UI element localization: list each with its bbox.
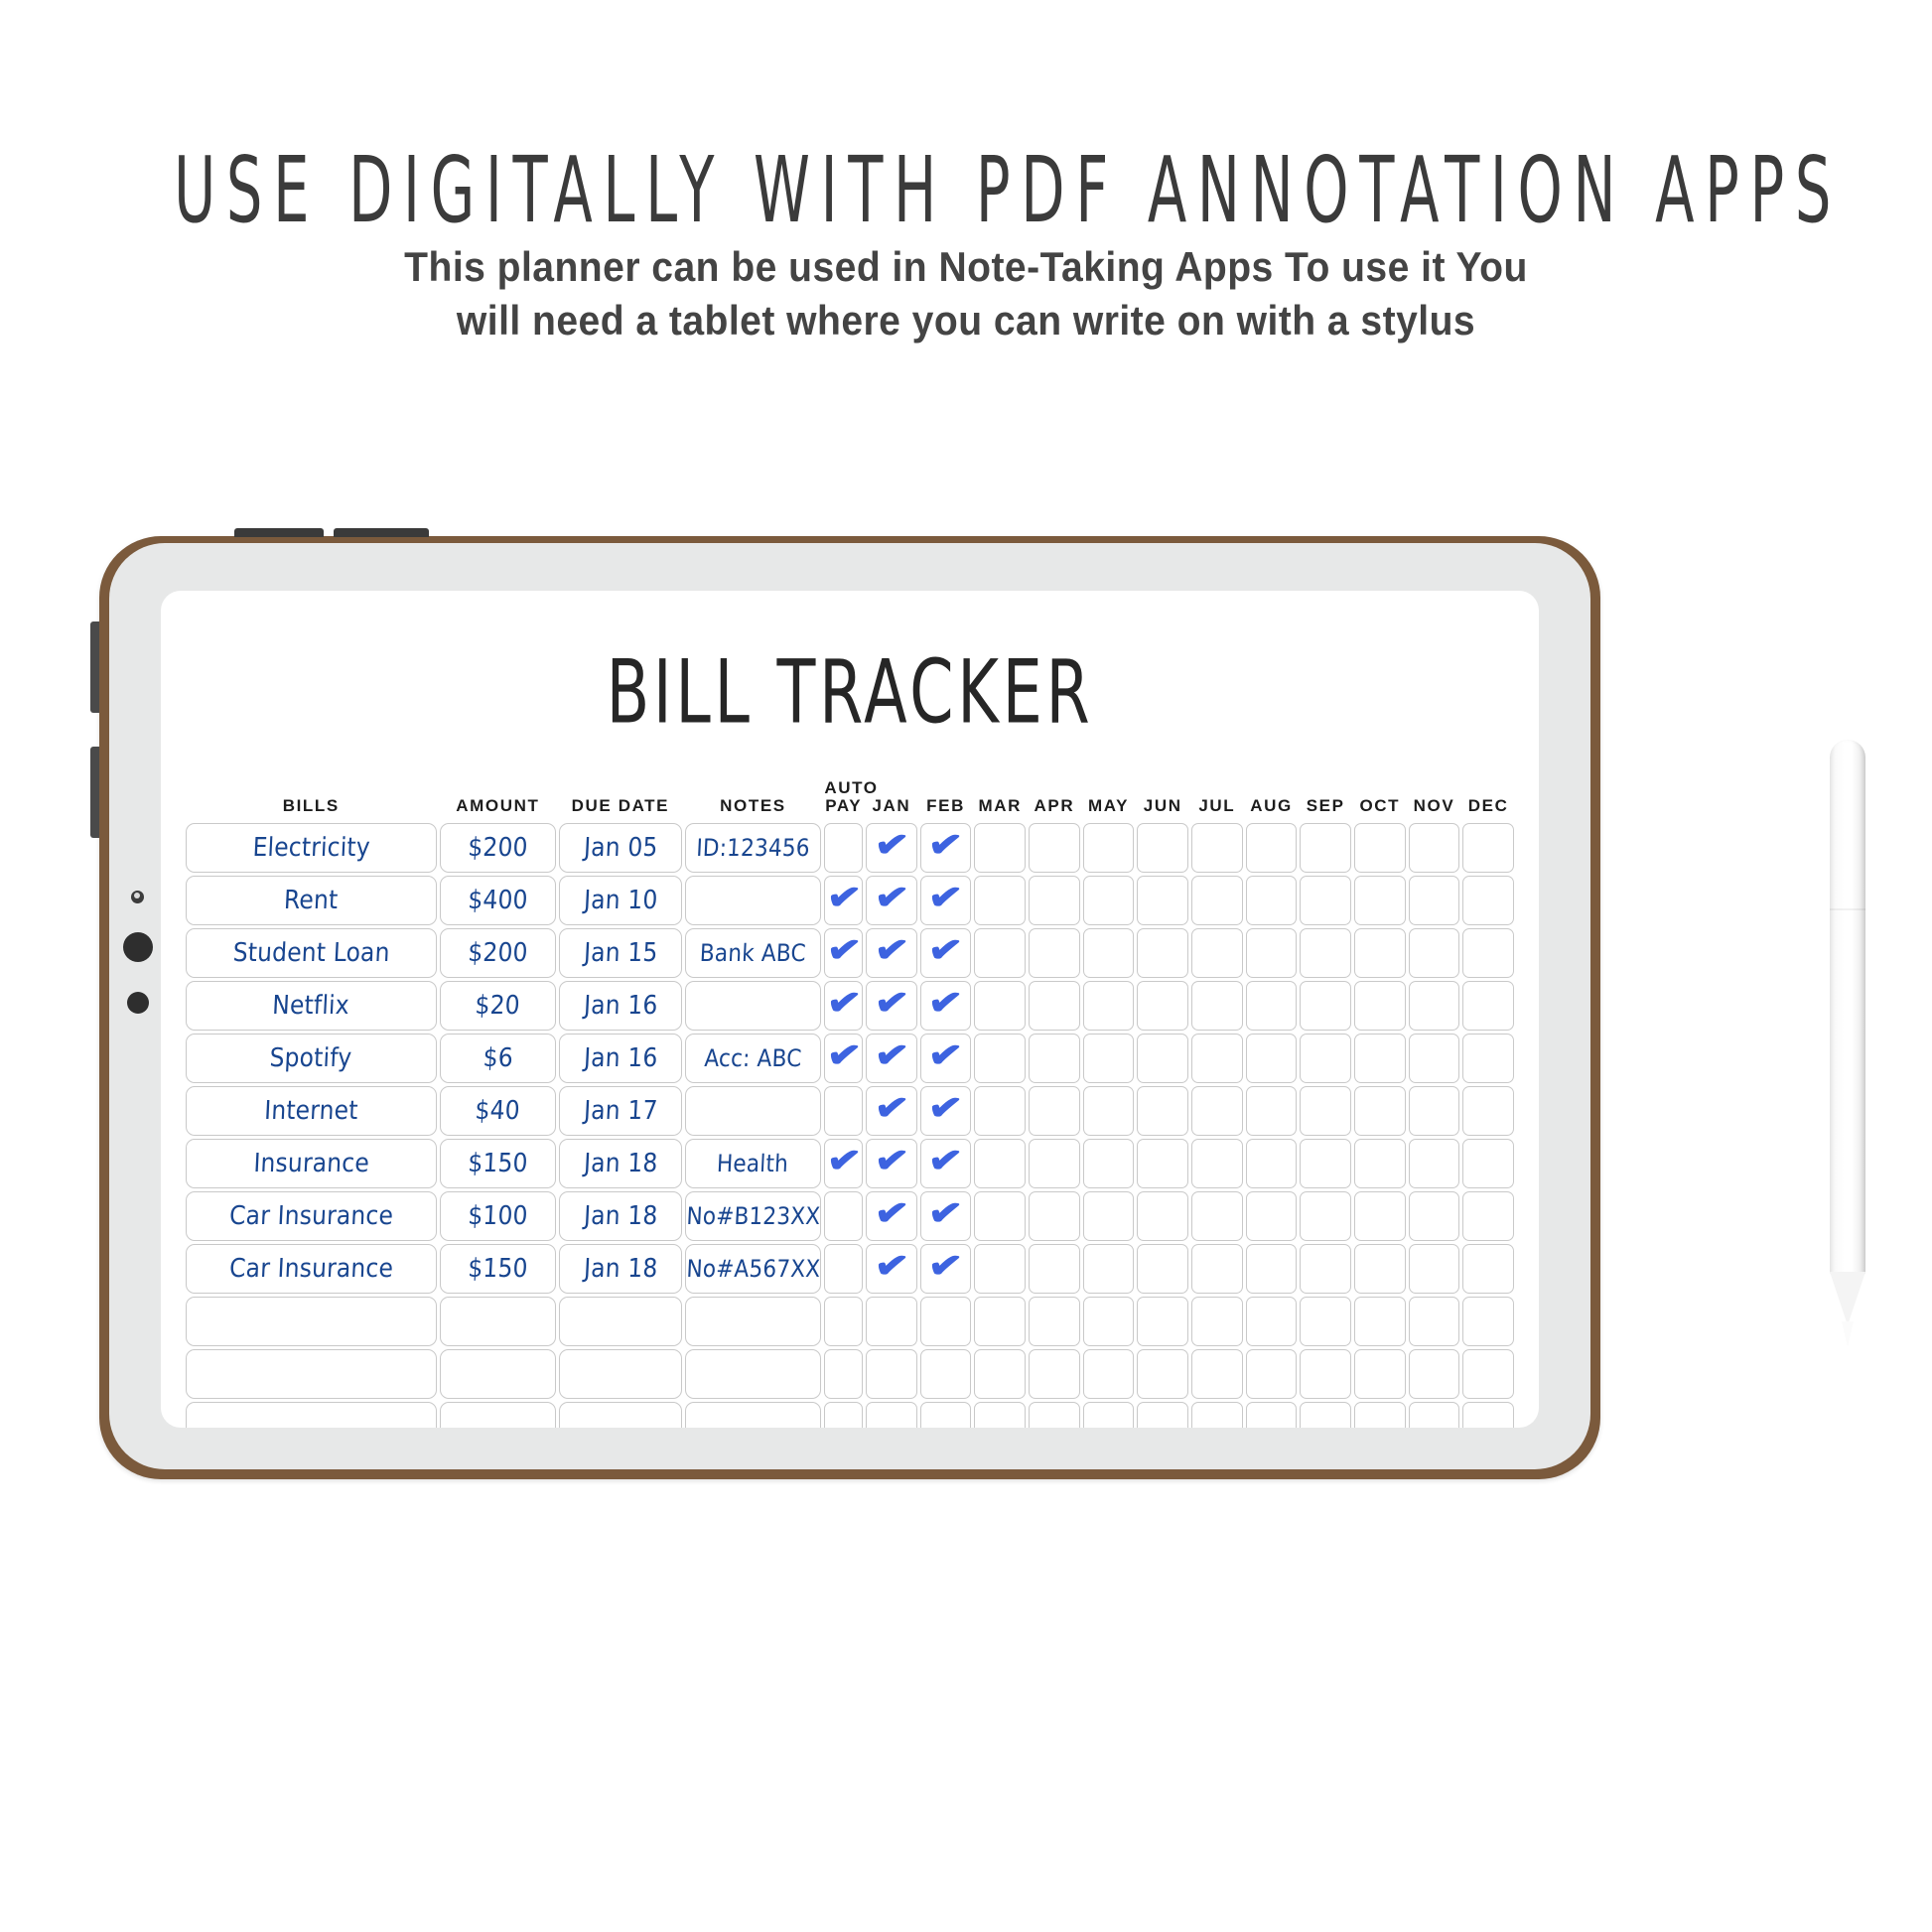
notes-cell[interactable] — [685, 876, 822, 925]
month-checkbox-aug[interactable] — [1246, 1191, 1298, 1241]
bill-name-cell-value: Rent — [283, 886, 339, 915]
column-header-month-aug: AUG — [1246, 779, 1298, 820]
table-row: Rent$400Jan 10✔✔✔ — [186, 876, 1514, 925]
column-header-month-oct: OCT — [1354, 779, 1406, 820]
month-checkbox-oct[interactable] — [1354, 876, 1406, 925]
month-checkbox-apr[interactable] — [1029, 1349, 1080, 1399]
notes-cell[interactable]: ID:123456 — [685, 823, 822, 873]
month-checkbox-oct[interactable] — [1354, 981, 1406, 1031]
bill-tracker-table: BILLS AMOUNT DUE DATE NOTES AUTO PAY JAN… — [183, 776, 1517, 1428]
due-date-cell[interactable]: Jan 18 — [559, 1139, 681, 1188]
month-checkbox-jun[interactable] — [1137, 1244, 1188, 1294]
auto-pay-checkbox[interactable] — [824, 1297, 863, 1346]
month-checkbox-dec[interactable] — [1462, 1086, 1514, 1136]
month-checkbox-jan[interactable]: ✔ — [866, 981, 917, 1031]
month-checkbox-jul[interactable] — [1191, 1297, 1243, 1346]
month-checkbox-feb[interactable]: ✔ — [920, 823, 972, 873]
stylus-shading — [1830, 740, 1865, 1276]
amount-cell-value: $200 — [468, 833, 529, 863]
column-header-month-sep: SEP — [1300, 779, 1351, 820]
checkmark-icon: ✔ — [926, 825, 964, 864]
month-checkbox-sep[interactable] — [1300, 1349, 1351, 1399]
month-checkbox-oct[interactable] — [1354, 1349, 1406, 1399]
tablet-device: BILL TRACKER — [99, 536, 1600, 1479]
month-checkbox-aug[interactable] — [1246, 1349, 1298, 1399]
column-header-auto-pay: AUTO PAY — [824, 779, 863, 820]
tablet-volume-down-button[interactable] — [90, 747, 99, 838]
month-checkbox-dec[interactable] — [1462, 1297, 1514, 1346]
month-checkbox-jul[interactable] — [1191, 823, 1243, 873]
month-checkbox-dec[interactable] — [1462, 1244, 1514, 1294]
due-date-cell-value: Jan 16 — [583, 1043, 658, 1073]
due-date-cell[interactable] — [559, 1349, 681, 1399]
amount-cell[interactable]: $200 — [440, 823, 557, 873]
amount-cell[interactable]: $400 — [440, 876, 557, 925]
month-checkbox-jun[interactable] — [1137, 928, 1188, 978]
bill-name-cell-value: Spotify — [269, 1043, 352, 1073]
notes-cell[interactable] — [685, 1349, 822, 1399]
auto-pay-checkbox[interactable]: ✔ — [824, 876, 863, 925]
month-checkbox-feb[interactable]: ✔ — [920, 1191, 972, 1241]
month-checkbox-nov[interactable] — [1409, 1297, 1460, 1346]
checkmark-icon: ✔ — [926, 1035, 964, 1074]
month-checkbox-jul[interactable] — [1191, 876, 1243, 925]
bill-name-cell-value: Netflix — [272, 991, 350, 1021]
table-row: Car Insurance$100Jan 18No#B123XX✔✔ — [186, 1191, 1514, 1241]
month-checkbox-sep[interactable] — [1300, 928, 1351, 978]
month-checkbox-aug[interactable] — [1246, 876, 1298, 925]
column-header-due-date: DUE DATE — [559, 779, 681, 820]
due-date-cell[interactable]: Jan 15 — [559, 928, 681, 978]
month-checkbox-feb[interactable] — [920, 1349, 972, 1399]
month-checkbox-mar[interactable] — [974, 928, 1026, 978]
column-header-month-may: MAY — [1083, 779, 1135, 820]
month-checkbox-aug[interactable] — [1246, 1034, 1298, 1083]
month-checkbox-aug[interactable] — [1246, 1244, 1298, 1294]
amount-cell[interactable]: $200 — [440, 928, 557, 978]
month-checkbox-jul[interactable] — [1191, 928, 1243, 978]
month-checkbox-jun[interactable] — [1137, 1139, 1188, 1188]
due-date-cell[interactable]: Jan 05 — [559, 823, 681, 873]
month-checkbox-mar[interactable] — [974, 1139, 1026, 1188]
month-checkbox-oct[interactable] — [1354, 823, 1406, 873]
month-checkbox-dec[interactable] — [1462, 1349, 1514, 1399]
notes-cell[interactable] — [685, 981, 822, 1031]
month-checkbox-may[interactable] — [1083, 1034, 1135, 1083]
amount-cell-value: $200 — [468, 938, 529, 968]
month-checkbox-nov[interactable] — [1409, 1034, 1460, 1083]
month-checkbox-mar[interactable] — [974, 1086, 1026, 1136]
month-checkbox-nov[interactable] — [1409, 928, 1460, 978]
checkmark-icon: ✔ — [825, 930, 863, 969]
column-header-notes: NOTES — [685, 779, 822, 820]
month-checkbox-jan[interactable]: ✔ — [866, 876, 917, 925]
month-checkbox-jun[interactable] — [1137, 981, 1188, 1031]
month-checkbox-oct[interactable] — [1354, 928, 1406, 978]
month-checkbox-oct[interactable] — [1354, 1034, 1406, 1083]
column-header-bills: BILLS — [186, 779, 437, 820]
month-checkbox-may[interactable] — [1083, 1086, 1135, 1136]
month-checkbox-oct[interactable] — [1354, 1244, 1406, 1294]
month-checkbox-may[interactable] — [1083, 928, 1135, 978]
month-checkbox-nov[interactable] — [1409, 876, 1460, 925]
month-checkbox-jan[interactable]: ✔ — [866, 928, 917, 978]
due-date-cell[interactable]: Jan 18 — [559, 1191, 681, 1241]
bill-name-cell-value: Insurance — [252, 1149, 369, 1178]
month-checkbox-aug[interactable] — [1246, 981, 1298, 1031]
month-checkbox-sep[interactable] — [1300, 981, 1351, 1031]
amount-cell-value: $40 — [475, 1096, 521, 1126]
month-checkbox-oct[interactable] — [1354, 1191, 1406, 1241]
month-checkbox-nov[interactable] — [1409, 1244, 1460, 1294]
tablet-bezel: BILL TRACKER — [109, 543, 1590, 1469]
planner-page: BILL TRACKER — [161, 591, 1539, 1428]
due-date-cell[interactable]: Jan 16 — [559, 1034, 681, 1083]
column-header-amount: AMOUNT — [440, 779, 557, 820]
bill-name-cell-value: Car Insurance — [228, 1201, 393, 1231]
bill-name-cell[interactable]: Spotify — [186, 1034, 437, 1083]
camera-icon — [131, 891, 144, 903]
due-date-cell-value: Jan 18 — [583, 1201, 658, 1231]
month-checkbox-apr[interactable] — [1029, 1402, 1080, 1428]
bill-name-cell[interactable] — [186, 1402, 437, 1428]
amount-cell[interactable] — [440, 1402, 557, 1428]
month-checkbox-sep[interactable] — [1300, 1244, 1351, 1294]
checkmark-icon: ✔ — [873, 825, 910, 864]
auto-pay-checkbox[interactable]: ✔ — [824, 1139, 863, 1188]
month-checkbox-mar[interactable] — [974, 1244, 1026, 1294]
notes-cell[interactable]: Bank ABC — [685, 928, 822, 978]
bill-name-cell[interactable]: Netflix — [186, 981, 437, 1031]
checkmark-icon: ✔ — [873, 930, 910, 969]
column-header-month-jun: JUN — [1137, 779, 1188, 820]
month-checkbox-sep[interactable] — [1300, 1297, 1351, 1346]
bill-name-cell[interactable] — [186, 1349, 437, 1399]
table-row: Car Insurance$150Jan 18No#A567XX✔✔ — [186, 1244, 1514, 1294]
table-row: Insurance$150Jan 18Health✔✔✔ — [186, 1139, 1514, 1188]
notes-cell-value: Bank ABC — [699, 939, 806, 967]
auto-pay-checkbox[interactable] — [824, 1191, 863, 1241]
bill-name-cell[interactable] — [186, 1297, 437, 1346]
month-checkbox-nov[interactable] — [1409, 1191, 1460, 1241]
amount-cell-value: $150 — [468, 1149, 529, 1178]
month-checkbox-jul[interactable] — [1191, 1139, 1243, 1188]
notes-cell[interactable]: No#B123XX — [685, 1191, 822, 1241]
notes-cell-value: ID:123456 — [696, 834, 811, 862]
bill-name-cell-value: Internet — [263, 1096, 358, 1126]
month-checkbox-may[interactable] — [1083, 1244, 1135, 1294]
month-checkbox-feb[interactable] — [920, 1402, 972, 1428]
month-checkbox-feb[interactable]: ✔ — [920, 1139, 972, 1188]
month-checkbox-mar[interactable] — [974, 876, 1026, 925]
month-checkbox-apr[interactable] — [1029, 1034, 1080, 1083]
notes-cell-value: No#A567XX — [685, 1255, 820, 1283]
month-checkbox-may[interactable] — [1083, 981, 1135, 1031]
promo-subtitle: This planner can be used in Note-Taking … — [68, 207, 1864, 347]
month-checkbox-dec[interactable] — [1462, 1034, 1514, 1083]
month-checkbox-oct[interactable] — [1354, 1402, 1406, 1428]
month-checkbox-mar[interactable] — [974, 1349, 1026, 1399]
tablet-top-button-right[interactable] — [334, 528, 429, 537]
notes-cell[interactable]: No#A567XX — [685, 1244, 822, 1294]
amount-cell-value: $400 — [468, 886, 529, 915]
tablet-volume-up-button[interactable] — [90, 621, 99, 713]
bill-name-cell[interactable]: Car Insurance — [186, 1244, 437, 1294]
auto-pay-checkbox[interactable] — [824, 823, 863, 873]
column-header-month-nov: NOV — [1409, 779, 1460, 820]
month-checkbox-dec[interactable] — [1462, 1139, 1514, 1188]
due-date-cell[interactable]: Jan 17 — [559, 1086, 681, 1136]
month-checkbox-jul[interactable] — [1191, 1086, 1243, 1136]
checkmark-icon: ✔ — [825, 878, 863, 916]
amount-cell-value: $20 — [475, 991, 521, 1021]
month-checkbox-oct[interactable] — [1354, 1139, 1406, 1188]
month-checkbox-feb[interactable]: ✔ — [920, 1034, 972, 1083]
month-checkbox-jun[interactable] — [1137, 1034, 1188, 1083]
table-body: Electricity$200Jan 05ID:123456✔✔Rent$400… — [186, 823, 1514, 1428]
month-checkbox-nov[interactable] — [1409, 823, 1460, 873]
month-checkbox-apr[interactable] — [1029, 1191, 1080, 1241]
month-checkbox-nov[interactable] — [1409, 1402, 1460, 1428]
column-header-month-mar: MAR — [974, 779, 1026, 820]
due-date-cell[interactable] — [559, 1402, 681, 1428]
month-checkbox-jun[interactable] — [1137, 1297, 1188, 1346]
month-checkbox-jun[interactable] — [1137, 876, 1188, 925]
month-checkbox-apr[interactable] — [1029, 876, 1080, 925]
table-row — [186, 1349, 1514, 1399]
bill-tracker-table-wrapper: BILLS AMOUNT DUE DATE NOTES AUTO PAY JAN… — [179, 776, 1521, 1428]
month-checkbox-feb[interactable]: ✔ — [920, 1086, 972, 1136]
column-header-month-dec: DEC — [1462, 779, 1514, 820]
month-checkbox-dec[interactable] — [1462, 1402, 1514, 1428]
notes-cell[interactable] — [685, 1402, 822, 1428]
column-header-month-jul: JUL — [1191, 779, 1243, 820]
amount-cell[interactable] — [440, 1297, 557, 1346]
auto-pay-checkbox[interactable] — [824, 1402, 863, 1428]
month-checkbox-mar[interactable] — [974, 1034, 1026, 1083]
month-checkbox-oct[interactable] — [1354, 1297, 1406, 1346]
month-checkbox-jan[interactable] — [866, 1349, 917, 1399]
month-checkbox-nov[interactable] — [1409, 1139, 1460, 1188]
table-row: Netflix$20Jan 16✔✔✔ — [186, 981, 1514, 1031]
month-checkbox-mar[interactable] — [974, 1191, 1026, 1241]
month-checkbox-sep[interactable] — [1300, 1139, 1351, 1188]
auto-pay-label-line2: PAY — [824, 797, 863, 815]
bill-name-cell[interactable]: Insurance — [186, 1139, 437, 1188]
due-date-cell[interactable] — [559, 1297, 681, 1346]
month-checkbox-may[interactable] — [1083, 876, 1135, 925]
month-checkbox-dec[interactable] — [1462, 1191, 1514, 1241]
table-header-row: BILLS AMOUNT DUE DATE NOTES AUTO PAY JAN… — [186, 779, 1514, 820]
bill-name-cell[interactable]: Car Insurance — [186, 1191, 437, 1241]
promo-subtitle-line2: will need a tablet where you can write o… — [68, 294, 1864, 347]
month-checkbox-sep[interactable] — [1300, 876, 1351, 925]
month-checkbox-feb[interactable] — [920, 1297, 972, 1346]
month-checkbox-sep[interactable] — [1300, 1402, 1351, 1428]
month-checkbox-mar[interactable] — [974, 823, 1026, 873]
month-checkbox-sep[interactable] — [1300, 1034, 1351, 1083]
amount-cell[interactable]: $100 — [440, 1191, 557, 1241]
amount-cell[interactable]: $20 — [440, 981, 557, 1031]
month-checkbox-jun[interactable] — [1137, 823, 1188, 873]
month-checkbox-dec[interactable] — [1462, 876, 1514, 925]
month-checkbox-mar[interactable] — [974, 1297, 1026, 1346]
month-checkbox-feb[interactable]: ✔ — [920, 981, 972, 1031]
due-date-cell-value: Jan 15 — [583, 938, 658, 968]
month-checkbox-apr[interactable] — [1029, 823, 1080, 873]
stylus-pen[interactable] — [1830, 740, 1865, 1335]
table-row: Spotify$6Jan 16Acc: ABC✔✔✔ — [186, 1034, 1514, 1083]
month-checkbox-apr[interactable] — [1029, 928, 1080, 978]
month-checkbox-jul[interactable] — [1191, 1034, 1243, 1083]
month-checkbox-jul[interactable] — [1191, 1402, 1243, 1428]
month-checkbox-jan[interactable]: ✔ — [866, 823, 917, 873]
notes-cell-value: No#B123XX — [685, 1202, 820, 1230]
month-checkbox-jul[interactable] — [1191, 1191, 1243, 1241]
tablet-screen[interactable]: BILL TRACKER — [161, 591, 1539, 1428]
checkmark-icon: ✔ — [873, 1193, 910, 1232]
month-checkbox-jul[interactable] — [1191, 1244, 1243, 1294]
notes-cell[interactable] — [685, 1297, 822, 1346]
month-checkbox-apr[interactable] — [1029, 981, 1080, 1031]
month-checkbox-may[interactable] — [1083, 823, 1135, 873]
month-checkbox-dec[interactable] — [1462, 823, 1514, 873]
month-checkbox-jan[interactable] — [866, 1297, 917, 1346]
auto-pay-checkbox[interactable] — [824, 1244, 863, 1294]
amount-cell[interactable] — [440, 1349, 557, 1399]
amount-cell[interactable]: $40 — [440, 1086, 557, 1136]
checkmark-icon: ✔ — [926, 1141, 964, 1179]
month-checkbox-oct[interactable] — [1354, 1086, 1406, 1136]
month-checkbox-jun[interactable] — [1137, 1086, 1188, 1136]
month-checkbox-jul[interactable] — [1191, 981, 1243, 1031]
month-checkbox-aug[interactable] — [1246, 928, 1298, 978]
table-row — [186, 1297, 1514, 1346]
stylus-cone — [1830, 1272, 1865, 1325]
month-checkbox-jul[interactable] — [1191, 1349, 1243, 1399]
month-checkbox-feb[interactable]: ✔ — [920, 1244, 972, 1294]
month-checkbox-aug[interactable] — [1246, 823, 1298, 873]
table-row: Electricity$200Jan 05ID:123456✔✔ — [186, 823, 1514, 873]
month-checkbox-aug[interactable] — [1246, 1297, 1298, 1346]
notes-cell-value: Acc: ABC — [704, 1044, 802, 1072]
sensor-dot-large-icon — [123, 932, 153, 962]
bill-name-cell[interactable]: Rent — [186, 876, 437, 925]
checkmark-icon: ✔ — [825, 1141, 863, 1179]
month-checkbox-nov[interactable] — [1409, 981, 1460, 1031]
due-date-cell-value: Jan 18 — [583, 1149, 658, 1178]
checkmark-icon: ✔ — [873, 983, 910, 1022]
bill-name-cell[interactable]: Internet — [186, 1086, 437, 1136]
amount-cell-value: $100 — [468, 1201, 529, 1231]
month-checkbox-apr[interactable] — [1029, 1086, 1080, 1136]
checkmark-icon: ✔ — [825, 1035, 863, 1074]
month-checkbox-nov[interactable] — [1409, 1086, 1460, 1136]
month-checkbox-jan[interactable]: ✔ — [866, 1086, 917, 1136]
month-checkbox-aug[interactable] — [1246, 1402, 1298, 1428]
due-date-cell[interactable]: Jan 16 — [559, 981, 681, 1031]
column-header-month-apr: APR — [1029, 779, 1080, 820]
month-checkbox-may[interactable] — [1083, 1297, 1135, 1346]
month-checkbox-aug[interactable] — [1246, 1086, 1298, 1136]
month-checkbox-dec[interactable] — [1462, 981, 1514, 1031]
due-date-cell-value: Jan 18 — [583, 1254, 658, 1284]
bill-name-cell[interactable]: Electricity — [186, 823, 437, 873]
amount-cell[interactable]: $6 — [440, 1034, 557, 1083]
bill-name-cell-value: Electricity — [251, 833, 370, 863]
bill-name-cell-value: Car Insurance — [228, 1254, 393, 1284]
due-date-cell[interactable]: Jan 18 — [559, 1244, 681, 1294]
promo-header: USE DIGITALLY WITH PDF ANNOTATION APPS T… — [0, 0, 1932, 347]
month-checkbox-sep[interactable] — [1300, 823, 1351, 873]
due-date-cell[interactable]: Jan 10 — [559, 876, 681, 925]
notes-cell[interactable]: Health — [685, 1139, 822, 1188]
due-date-cell-value: Jan 10 — [583, 886, 658, 915]
month-checkbox-apr[interactable] — [1029, 1297, 1080, 1346]
notes-cell[interactable]: Acc: ABC — [685, 1034, 822, 1083]
month-checkbox-may[interactable] — [1083, 1191, 1135, 1241]
month-checkbox-jun[interactable] — [1137, 1191, 1188, 1241]
month-checkbox-jan[interactable]: ✔ — [866, 1034, 917, 1083]
month-checkbox-jun[interactable] — [1137, 1402, 1188, 1428]
month-checkbox-apr[interactable] — [1029, 1244, 1080, 1294]
bill-name-cell-value: Student Loan — [232, 938, 390, 968]
month-checkbox-jan[interactable] — [866, 1402, 917, 1428]
month-checkbox-sep[interactable] — [1300, 1191, 1351, 1241]
notes-cell[interactable] — [685, 1086, 822, 1136]
auto-pay-checkbox[interactable]: ✔ — [824, 928, 863, 978]
checkmark-icon: ✔ — [825, 983, 863, 1022]
month-checkbox-aug[interactable] — [1246, 1139, 1298, 1188]
notes-cell-value: Health — [717, 1150, 789, 1177]
checkmark-icon: ✔ — [873, 1035, 910, 1074]
stylus-tip — [1842, 1321, 1854, 1347]
tablet-top-button-left[interactable] — [234, 528, 324, 537]
auto-pay-checkbox[interactable]: ✔ — [824, 981, 863, 1031]
month-checkbox-mar[interactable] — [974, 981, 1026, 1031]
month-checkbox-feb[interactable]: ✔ — [920, 876, 972, 925]
checkmark-icon: ✔ — [873, 1246, 910, 1285]
month-checkbox-feb[interactable]: ✔ — [920, 928, 972, 978]
table-row: Student Loan$200Jan 15Bank ABC✔✔✔ — [186, 928, 1514, 978]
bill-name-cell[interactable]: Student Loan — [186, 928, 437, 978]
month-checkbox-jan[interactable]: ✔ — [866, 1244, 917, 1294]
stylus-body — [1830, 740, 1865, 1276]
month-checkbox-sep[interactable] — [1300, 1086, 1351, 1136]
page-title: BILL TRACKER — [225, 640, 1473, 743]
auto-pay-label-line1: AUTO — [824, 779, 863, 797]
auto-pay-checkbox[interactable] — [824, 1349, 863, 1399]
month-checkbox-apr[interactable] — [1029, 1139, 1080, 1188]
amount-cell-value: $6 — [483, 1043, 514, 1073]
month-checkbox-may[interactable] — [1083, 1349, 1135, 1399]
auto-pay-checkbox[interactable] — [824, 1086, 863, 1136]
auto-pay-checkbox[interactable]: ✔ — [824, 1034, 863, 1083]
month-checkbox-dec[interactable] — [1462, 928, 1514, 978]
amount-cell-value: $150 — [468, 1254, 529, 1284]
month-checkbox-jan[interactable]: ✔ — [866, 1191, 917, 1241]
amount-cell[interactable]: $150 — [440, 1244, 557, 1294]
month-checkbox-may[interactable] — [1083, 1139, 1135, 1188]
month-checkbox-jun[interactable] — [1137, 1349, 1188, 1399]
month-checkbox-mar[interactable] — [974, 1402, 1026, 1428]
month-checkbox-may[interactable] — [1083, 1402, 1135, 1428]
month-checkbox-jan[interactable]: ✔ — [866, 1139, 917, 1188]
checkmark-icon: ✔ — [926, 878, 964, 916]
month-checkbox-nov[interactable] — [1409, 1349, 1460, 1399]
sensor-dot-small-icon — [127, 992, 149, 1014]
amount-cell[interactable]: $150 — [440, 1139, 557, 1188]
